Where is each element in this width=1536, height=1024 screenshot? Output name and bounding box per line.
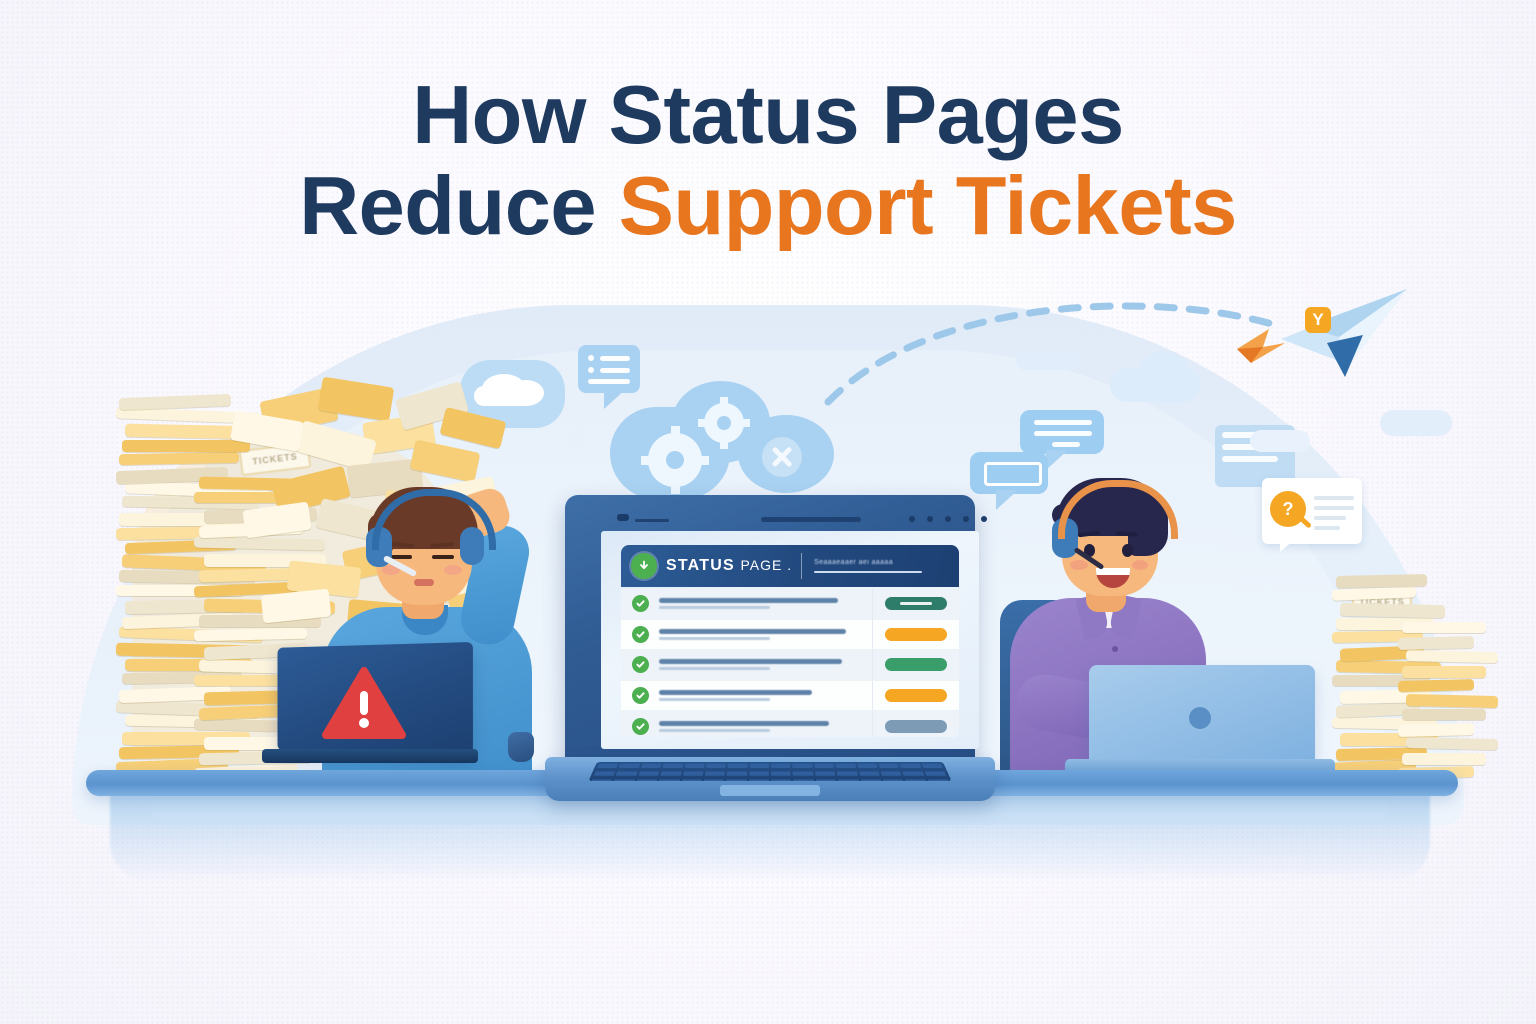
keyboard-row <box>590 770 950 778</box>
keyboard-key[interactable] <box>594 771 616 775</box>
keyboard-key[interactable] <box>771 779 791 781</box>
keyboard-key[interactable] <box>880 771 901 775</box>
bezel-speaker <box>761 517 861 522</box>
status-badge-cell <box>873 689 959 702</box>
plane-badge-icon: Y <box>1305 307 1331 333</box>
title-line-2-prefix: Reduce <box>299 159 618 252</box>
laptop-left <box>270 645 470 773</box>
keyboard-key[interactable] <box>726 779 747 781</box>
status-badge[interactable] <box>885 628 947 641</box>
keyboard-key[interactable] <box>749 764 769 768</box>
laptop-keyboard <box>588 762 951 781</box>
keyboard-key[interactable] <box>597 764 618 768</box>
keyboard-key[interactable] <box>749 771 769 775</box>
laptop-base <box>545 757 995 801</box>
status-badge-cell <box>873 597 959 610</box>
keyboard-key[interactable] <box>902 771 924 775</box>
status-page-title-strong: STATUS <box>666 557 735 574</box>
keyboard-key[interactable] <box>793 771 813 775</box>
title-line-2-highlight: Support Tickets <box>619 159 1237 252</box>
download-circle-icon <box>631 553 657 579</box>
laptop-lid: STATUS PAGE . Seaaaeaaer aei aaaaa <box>565 495 975 763</box>
ticket-pile-right: TICKETS <box>1330 585 1490 785</box>
keyboard-key[interactable] <box>682 771 703 775</box>
keyboard-key[interactable] <box>921 764 942 768</box>
warning-triangle-icon <box>322 667 406 741</box>
gear-icon <box>648 433 702 487</box>
magnifier-handle-icon <box>1299 516 1312 528</box>
keyboard-key[interactable] <box>905 779 927 781</box>
keyboard-key[interactable] <box>883 779 905 781</box>
header-divider <box>801 553 802 579</box>
status-row-label <box>659 690 872 701</box>
status-badge[interactable] <box>885 658 947 671</box>
keyboard-key[interactable] <box>684 764 704 768</box>
keyboard-key[interactable] <box>590 779 612 781</box>
keyboard-key[interactable] <box>616 771 638 775</box>
status-badge-cell <box>873 628 959 641</box>
ticket-envelope <box>1402 622 1486 633</box>
status-page-header: STATUS PAGE . Seaaaeaaer aei aaaaa <box>621 545 959 587</box>
keyboard-key[interactable] <box>705 771 726 775</box>
keyboard-row <box>594 762 947 770</box>
ticket-envelope <box>1336 574 1427 588</box>
check-circle-icon <box>632 595 649 612</box>
status-page-meta: Seaaaeaaer aei aaaaa <box>814 559 922 573</box>
check-circle-icon <box>632 718 649 735</box>
keyboard-key[interactable] <box>641 764 662 768</box>
status-row-label <box>659 629 872 640</box>
keyboard-key[interactable] <box>792 764 812 768</box>
keyboard-key[interactable] <box>927 779 949 781</box>
ticket-envelope <box>1406 694 1498 708</box>
keyboard-key[interactable] <box>727 771 747 775</box>
ticket-envelope <box>440 407 507 449</box>
keyboard-key[interactable] <box>835 764 855 768</box>
ticket-envelope <box>1406 737 1498 750</box>
keyboard-key[interactable] <box>857 764 878 768</box>
keyboard-key[interactable] <box>658 779 680 781</box>
check-circle-icon <box>632 656 649 673</box>
status-page-rows <box>621 589 959 737</box>
laptop-trackpad <box>720 785 820 796</box>
keyboard-key[interactable] <box>900 764 921 768</box>
keyboard-row <box>588 778 951 782</box>
keyboard-key[interactable] <box>681 779 702 781</box>
keyboard-key[interactable] <box>728 764 748 768</box>
keyboard-key[interactable] <box>613 779 635 781</box>
x-close-icon <box>762 437 802 477</box>
status-row[interactable] <box>621 620 959 651</box>
background-cloud <box>1250 430 1310 452</box>
status-badge-cell <box>873 658 959 671</box>
title-line-1: How Status Pages <box>0 72 1536 157</box>
keyboard-key[interactable] <box>838 779 859 781</box>
ticket-envelope <box>119 394 231 410</box>
bezel-line <box>635 519 669 522</box>
paper-plane-icon <box>1275 285 1415 381</box>
keyboard-key[interactable] <box>619 764 640 768</box>
status-row[interactable] <box>621 681 959 712</box>
keyboard-key[interactable] <box>638 771 659 775</box>
illustration-canvas: Y TICKETS <box>0 0 1536 1024</box>
status-badge[interactable] <box>885 597 947 610</box>
laptop-screen: STATUS PAGE . Seaaaeaaer aei aaaaa <box>601 531 979 749</box>
keyboard-key[interactable] <box>878 764 899 768</box>
ticket-envelope <box>1406 650 1498 663</box>
ticket-envelope <box>1340 602 1445 617</box>
bezel-indicator <box>617 514 629 521</box>
ticket-envelope <box>1398 636 1474 650</box>
keyboard-key[interactable] <box>815 771 836 775</box>
title-line-2: Reduce Support Tickets <box>0 163 1536 248</box>
keyboard-key[interactable] <box>663 764 684 768</box>
background-cloud <box>1380 410 1452 436</box>
status-page-meta-underline <box>814 571 922 573</box>
ticket-envelope <box>1402 666 1486 678</box>
keyboard-key[interactable] <box>771 771 791 775</box>
status-row[interactable] <box>621 711 959 737</box>
keyboard-key[interactable] <box>636 779 658 781</box>
status-page-title: STATUS PAGE . <box>666 557 792 575</box>
status-row-label <box>659 598 872 609</box>
dashed-arc-icon <box>820 290 1300 410</box>
keyboard-key[interactable] <box>816 779 837 781</box>
gear-icon <box>704 403 744 443</box>
status-row-label <box>659 721 872 732</box>
status-badge[interactable] <box>885 689 947 702</box>
keyboard-key[interactable] <box>703 779 724 781</box>
check-circle-icon <box>632 687 649 704</box>
keyboard-key[interactable] <box>860 779 882 781</box>
laptop-right <box>1075 665 1325 777</box>
keyboard-key[interactable] <box>837 771 858 775</box>
keyboard-key[interactable] <box>814 764 834 768</box>
status-row-label <box>659 659 872 670</box>
status-badge[interactable] <box>885 720 947 733</box>
status-page-meta-text: Seaaaeaaer aei aaaaa <box>814 559 922 566</box>
status-row[interactable] <box>621 650 959 681</box>
ticket-envelope <box>1398 679 1474 692</box>
ticket-envelope <box>1402 753 1486 765</box>
keyboard-key[interactable] <box>859 771 880 775</box>
keyboard-key[interactable] <box>771 764 791 768</box>
check-circle-icon <box>632 626 649 643</box>
keyboard-key[interactable] <box>706 764 726 768</box>
keyboard-key[interactable] <box>924 771 946 775</box>
ticket-envelope <box>122 440 250 452</box>
status-page-title-light: PAGE . <box>740 557 792 573</box>
status-row[interactable] <box>621 589 959 620</box>
mouse <box>508 732 534 762</box>
keyboard-key[interactable] <box>793 779 814 781</box>
ticket-envelope <box>1398 723 1474 737</box>
ticket-envelope <box>1402 709 1486 720</box>
status-page-laptop: STATUS PAGE . Seaaaeaaer aei aaaaa <box>545 495 995 815</box>
keyboard-key[interactable] <box>660 771 681 775</box>
page-title: How Status Pages Reduce Support Tickets <box>0 72 1536 249</box>
status-badge-cell <box>873 720 959 733</box>
keyboard-key[interactable] <box>748 779 768 781</box>
